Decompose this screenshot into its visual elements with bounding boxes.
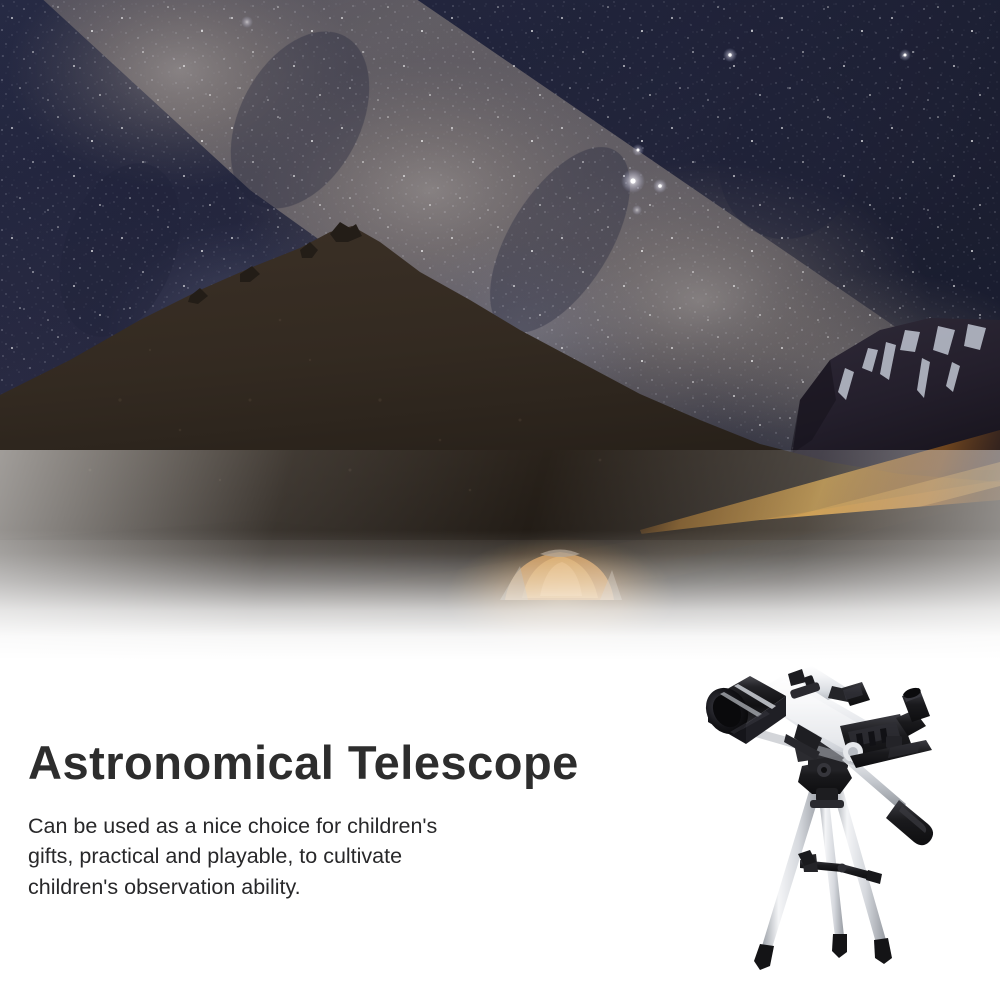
optical-tube-assembly xyxy=(698,666,932,768)
eyepiece-upper xyxy=(842,682,870,706)
night-sky-illustration xyxy=(0,0,1000,660)
description-line-1: Can be used as a nice choice for childre… xyxy=(28,811,648,842)
telescope-illustration xyxy=(690,648,1000,978)
hero-night-sky-photo xyxy=(0,0,1000,660)
copy-block: Astronomical Telescope Can be used as a … xyxy=(28,738,648,902)
tripod-foot xyxy=(832,934,847,958)
product-banner: Astronomical Telescope Can be used as a … xyxy=(0,0,1000,1000)
description-line-2: gifts, practical and playable, to cultiv… xyxy=(28,841,648,872)
tripod-leg-left xyxy=(754,788,821,970)
page-title: Astronomical Telescope xyxy=(28,738,648,789)
slow-motion-control-rod[interactable] xyxy=(842,754,933,845)
product-description: Can be used as a nice choice for childre… xyxy=(28,811,648,903)
control-rod-grip xyxy=(886,800,933,845)
product-image xyxy=(690,648,1000,978)
description-line-3: children's observation ability. xyxy=(28,872,648,903)
tripod-foot xyxy=(874,938,892,964)
tripod-foot xyxy=(754,944,774,970)
tripod-spreader xyxy=(798,850,882,884)
